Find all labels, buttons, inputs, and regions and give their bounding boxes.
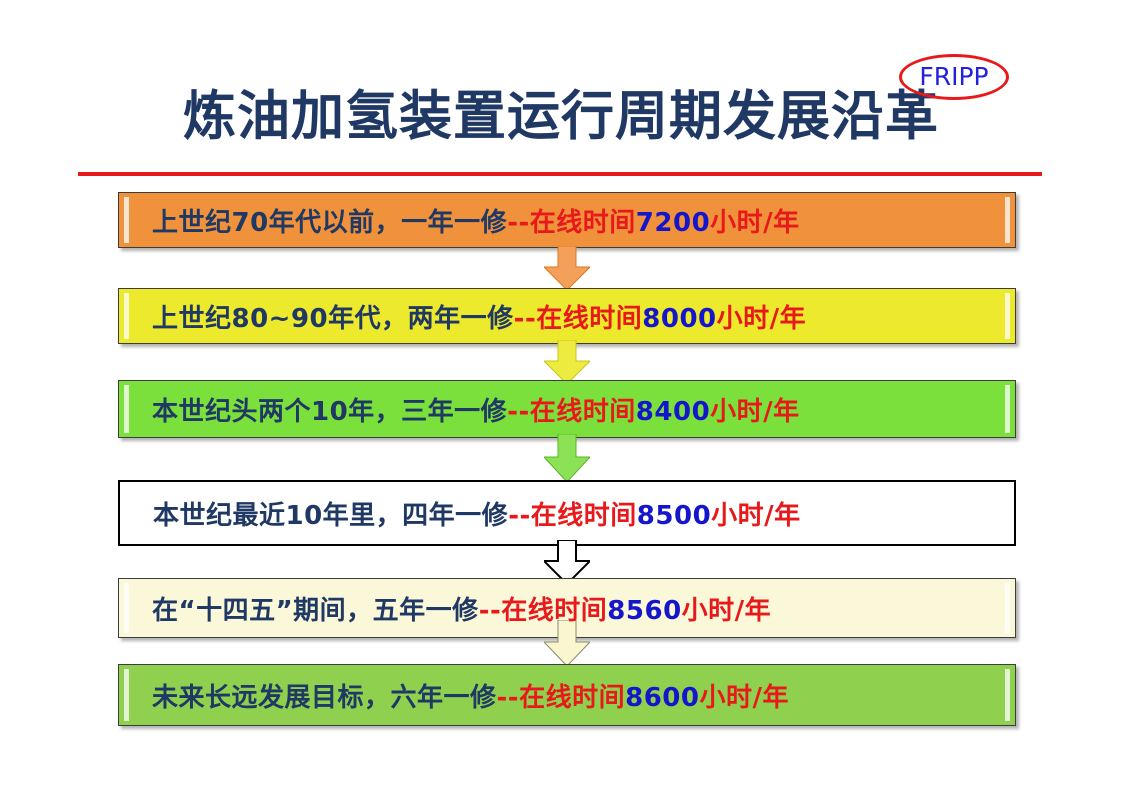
flow-stage-box-6[interactable]: 未来长远发展目标，六年一修--在线时间8600小时/年 [118,664,1016,726]
flow-stage-separator: -- [507,208,530,238]
flow-stage-online-label: 在线时间 [519,683,625,713]
flow-row: 上世纪70年代以前，一年一修--在线时间7200小时/年 [118,192,1016,248]
flow-connector-arrow-down-icon [544,246,590,290]
flow-stage-text: 未来长远发展目标，六年一修--在线时间8600小时/年 [119,677,789,714]
flow-stage-text: 本世纪头两个10年，三年一修--在线时间8400小时/年 [119,391,800,428]
flow-stage-text: 上世纪70年代以前，一年一修--在线时间7200小时/年 [119,202,800,239]
flow-stage-period: 在“十四五”期间，五年一修 [152,596,479,626]
fripp-logo: FRIPP [899,54,1013,104]
flow-stage-box-3[interactable]: 本世纪头两个10年，三年一修--在线时间8400小时/年 [118,380,1016,438]
flow-connector-arrow-down-icon [544,340,590,384]
flow-stage-period: 本世纪头两个10年，三年一修 [152,397,507,427]
flow-stage-separator: -- [508,501,531,531]
flow-stage-text: 上世纪80~90年代，两年一修--在线时间8000小时/年 [119,298,806,335]
flow-stage-separator: -- [507,397,530,427]
flow-stage-hours-unit: 小时/年 [710,208,800,238]
flow-stage-hours-value: 8600 [625,683,699,713]
flow-stage-online-label: 在线时间 [530,397,636,427]
slide-header: 炼油加氢装置运行周期发展沿革 FRIPP [0,0,1122,180]
flow-stage-hours-value: 7200 [636,208,710,238]
flow-stage-separator: -- [479,596,502,626]
flow-stage-box-4[interactable]: 本世纪最近10年里，四年一修--在线时间8500小时/年 [118,480,1016,546]
flow-stage-hours-value: 8560 [607,596,681,626]
flow-stage-text: 本世纪最近10年里，四年一修--在线时间8500小时/年 [120,495,801,532]
flow-stage-online-label: 在线时间 [531,501,637,531]
flow-stage-online-label: 在线时间 [501,596,607,626]
flow-stage-online-label: 在线时间 [530,208,636,238]
flow-stage-hours-unit: 小时/年 [710,397,800,427]
flow-row: 未来长远发展目标，六年一修--在线时间8600小时/年 [118,664,1016,726]
flow-row: 本世纪头两个10年，三年一修--在线时间8400小时/年 [118,380,1016,438]
flow-stage-hours-unit: 小时/年 [700,683,790,713]
flow-stage-period: 未来长远发展目标，六年一修 [152,683,497,713]
fripp-logo-text: FRIPP [899,54,1009,100]
flow-stage-hours-unit: 小时/年 [717,304,807,334]
flow-row: 上世纪80~90年代，两年一修--在线时间8000小时/年 [118,288,1016,344]
flow-stage-separator: -- [497,683,520,713]
flow-stage-hours-value: 8000 [642,304,716,334]
flow-diagram: 上世纪70年代以前，一年一修--在线时间7200小时/年上世纪80~90年代，两… [118,192,1016,732]
flow-stage-hours-value: 8500 [637,501,711,531]
flow-stage-period: 上世纪70年代以前，一年一修 [152,208,507,238]
flow-stage-period: 本世纪最近10年里，四年一修 [153,501,508,531]
flow-row: 本世纪最近10年里，四年一修--在线时间8500小时/年 [118,480,1016,546]
flow-stage-hours-unit: 小时/年 [682,596,772,626]
flow-stage-online-label: 在线时间 [536,304,642,334]
flow-stage-period: 上世纪80~90年代，两年一修 [152,304,514,334]
flow-stage-separator: -- [514,304,537,334]
flow-connector-arrow-down-icon [544,434,590,482]
flow-stage-box-2[interactable]: 上世纪80~90年代，两年一修--在线时间8000小时/年 [118,288,1016,344]
title-underline-rule [78,172,1042,176]
flow-stage-hours-unit: 小时/年 [711,501,801,531]
flow-connector-arrow-down-icon [544,620,590,666]
flow-stage-hours-value: 8400 [636,397,710,427]
flow-stage-text: 在“十四五”期间，五年一修--在线时间8560小时/年 [119,590,771,627]
flow-stage-box-1[interactable]: 上世纪70年代以前，一年一修--在线时间7200小时/年 [118,192,1016,248]
